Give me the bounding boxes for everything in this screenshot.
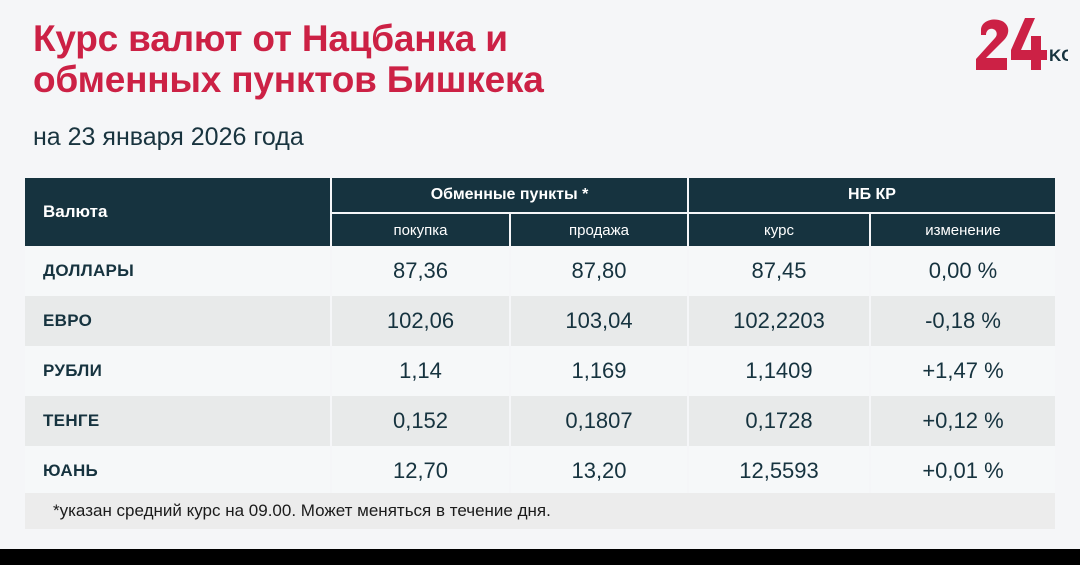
- currency-rates-table: Валюта Обменные пункты * НБ КР покупка п…: [25, 178, 1055, 496]
- svg-text:KG: KG: [1049, 46, 1068, 65]
- cell-buy: 1,14: [331, 346, 510, 396]
- logo-kg-text: KG: [1049, 46, 1068, 65]
- page-subtitle: на 23 января 2026 года: [33, 122, 963, 152]
- table-header: Валюта Обменные пункты * НБ КР покупка п…: [25, 178, 1055, 246]
- cell-currency: РУБЛИ: [25, 346, 331, 396]
- cell-sell: 0,1807: [510, 396, 688, 446]
- table-header-group-row: Валюта Обменные пункты * НБ КР: [25, 178, 1055, 213]
- infographic-page: Курс валют от Нацбанка и обменных пункто…: [0, 0, 1080, 565]
- table-row: ДОЛЛАРЫ 87,36 87,80 87,45 0,00 %: [25, 246, 1055, 296]
- cell-change: +1,47 %: [870, 346, 1055, 396]
- rates-table-container: Валюта Обменные пункты * НБ КР покупка п…: [25, 178, 1055, 496]
- cell-sell: 87,80: [510, 246, 688, 296]
- cell-change: +0,12 %: [870, 396, 1055, 446]
- table-body: ДОЛЛАРЫ 87,36 87,80 87,45 0,00 % ЕВРО 10…: [25, 246, 1055, 496]
- column-header-change: изменение: [870, 213, 1055, 246]
- cell-currency: ТЕНГЕ: [25, 396, 331, 446]
- table-row: ЮАНЬ 12,70 13,20 12,5593 +0,01 %: [25, 446, 1055, 496]
- cell-change: +0,01 %: [870, 446, 1055, 496]
- cell-currency: ЮАНЬ: [25, 446, 331, 496]
- cell-sell: 103,04: [510, 296, 688, 346]
- header: Курс валют от Нацбанка и обменных пункто…: [33, 18, 963, 152]
- logo-24-mark: [976, 18, 1047, 70]
- cell-sell: 13,20: [510, 446, 688, 496]
- column-header-sell: продажа: [510, 213, 688, 246]
- page-title: Курс валют от Нацбанка и обменных пункто…: [33, 18, 963, 100]
- cell-buy: 102,06: [331, 296, 510, 346]
- column-header-currency: Валюта: [25, 178, 331, 246]
- cell-currency: ДОЛЛАРЫ: [25, 246, 331, 296]
- cell-rate: 0,1728: [688, 396, 870, 446]
- footnote-text: *указан средний курс на 09.00. Может мен…: [25, 501, 551, 521]
- footnote-band: *указан средний курс на 09.00. Может мен…: [25, 493, 1055, 529]
- cell-rate: 1,1409: [688, 346, 870, 396]
- column-header-rate: курс: [688, 213, 870, 246]
- cell-buy: 87,36: [331, 246, 510, 296]
- cell-rate: 87,45: [688, 246, 870, 296]
- cell-sell: 1,169: [510, 346, 688, 396]
- cell-rate: 102,2203: [688, 296, 870, 346]
- bottom-bar: [0, 549, 1080, 565]
- column-group-exchange-points: Обменные пункты *: [331, 178, 688, 213]
- table-row: РУБЛИ 1,14 1,169 1,1409 +1,47 %: [25, 346, 1055, 396]
- column-header-buy: покупка: [331, 213, 510, 246]
- table-row: ТЕНГЕ 0,152 0,1807 0,1728 +0,12 %: [25, 396, 1055, 446]
- table-row: ЕВРО 102,06 103,04 102,2203 -0,18 %: [25, 296, 1055, 346]
- cell-buy: 12,70: [331, 446, 510, 496]
- brand-logo-24kg: KG: [973, 16, 1068, 78]
- cell-rate: 12,5593: [688, 446, 870, 496]
- cell-buy: 0,152: [331, 396, 510, 446]
- cell-change: -0,18 %: [870, 296, 1055, 346]
- column-group-nbkr: НБ КР: [688, 178, 1055, 213]
- cell-change: 0,00 %: [870, 246, 1055, 296]
- cell-currency: ЕВРО: [25, 296, 331, 346]
